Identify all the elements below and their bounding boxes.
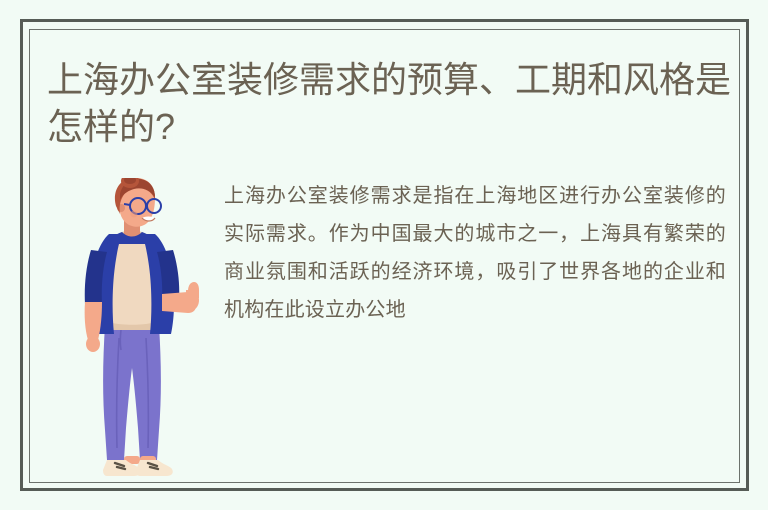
article-content-row: 上海办公室装修需求是指在上海地区进行办公室装修的实际需求。作为中国最大的城市之一… — [0, 0, 768, 510]
article-body-text: 上海办公室装修需求是指在上海地区进行办公室装修的实际需求。作为中国最大的城市之一… — [224, 177, 726, 329]
page-root: 上海办公室装修需求的预算、工期和风格是怎样的? — [0, 0, 768, 510]
standing-person-thumbs-up-icon — [62, 178, 202, 478]
person-illustration — [62, 178, 202, 478]
